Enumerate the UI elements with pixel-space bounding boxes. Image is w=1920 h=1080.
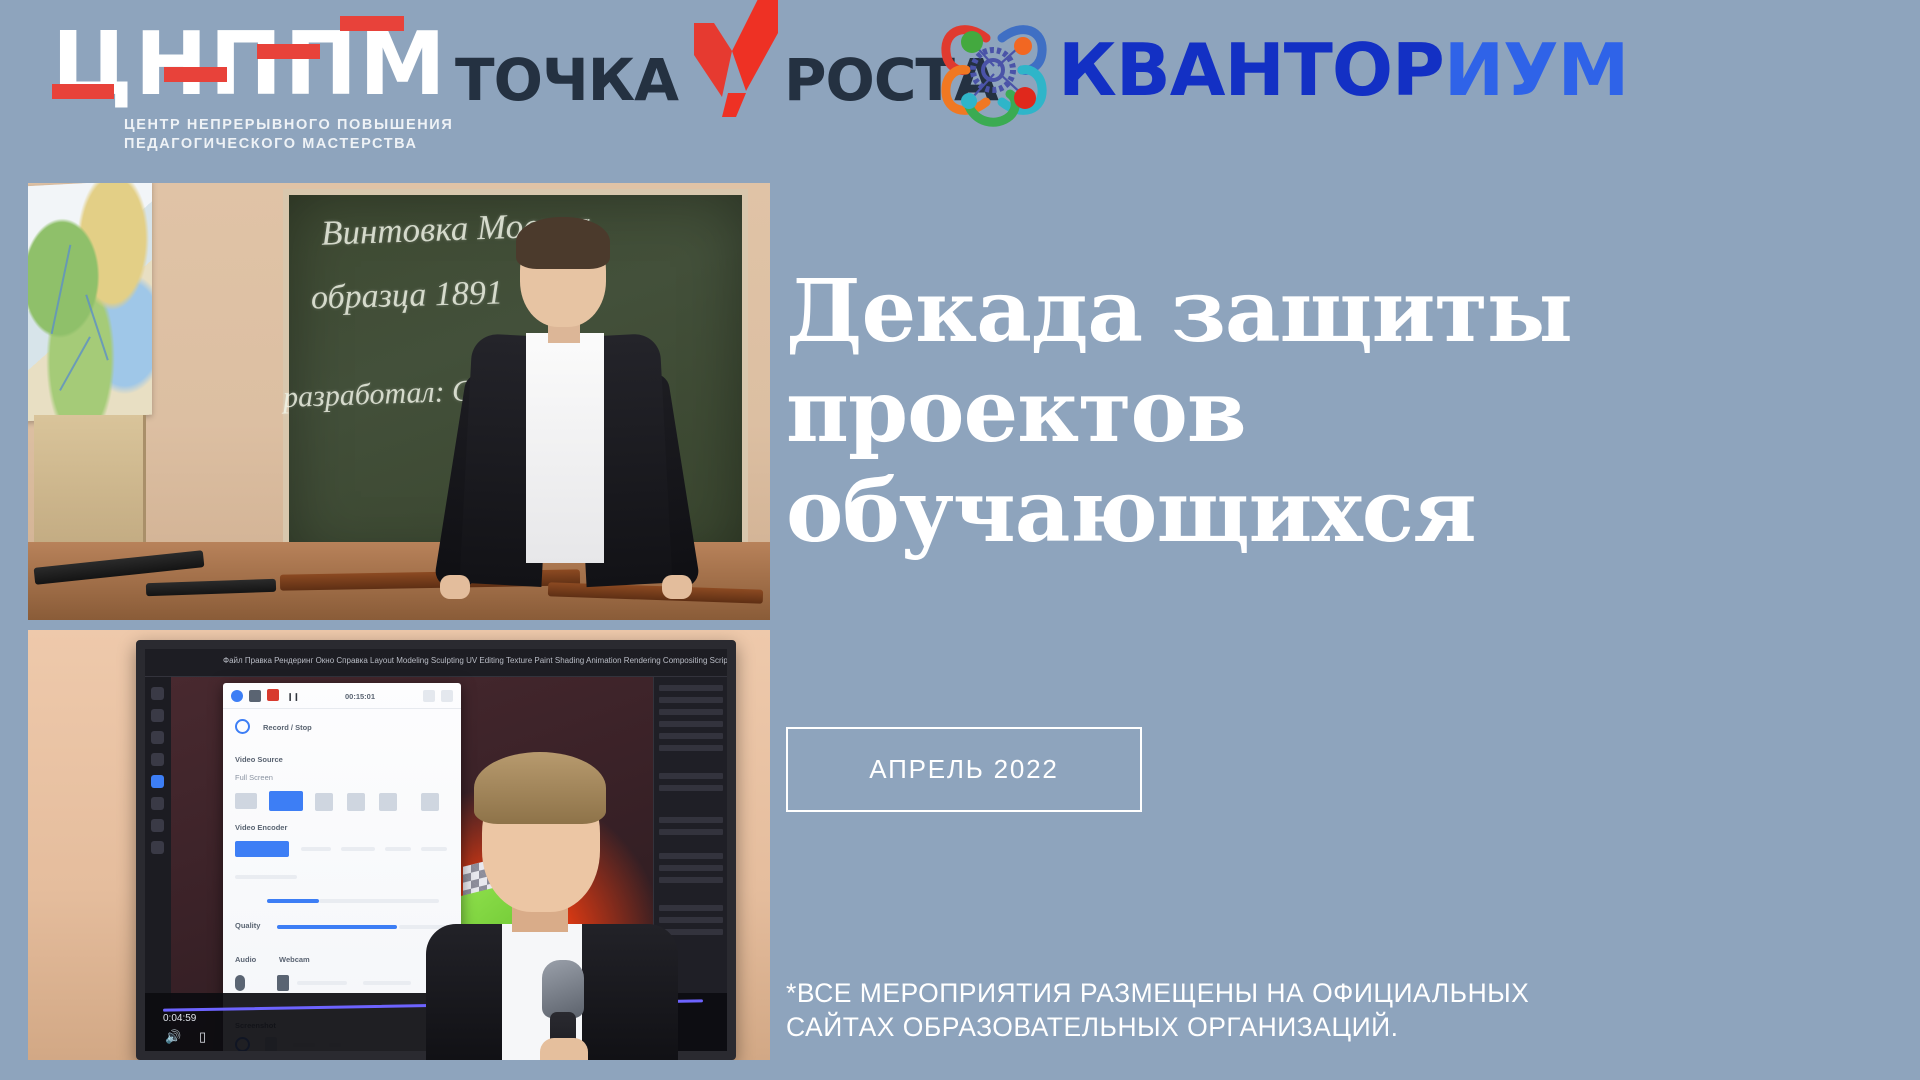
- page-title: Декада защиты проектов обучающихся: [786, 262, 1886, 562]
- student-bottom-hand: [540, 1038, 588, 1060]
- recorder-full-screen-label[interactable]: Full Screen: [235, 773, 273, 782]
- russia-flag-checkmark-icon: [688, 21, 774, 139]
- recorder-video-source-label: Video Source: [235, 755, 283, 764]
- footnote-line-1: *ВСЕ МЕРОПРИЯТИЯ РАЗМЕЩЕНЫ НА ОФИЦИАЛЬНЫ…: [786, 976, 1876, 1010]
- kvantorium-word-light: ИУМ: [1444, 28, 1628, 112]
- recorder-titlebar: ❙❙ 00:15:01: [223, 683, 461, 709]
- tochka-word-1: ТОЧКА: [455, 51, 678, 109]
- cnppm-accent-bar-3: [257, 44, 320, 59]
- student-bottom-jacket-right: [570, 924, 678, 1060]
- cnppm-accent-bar-2: [164, 67, 227, 82]
- student-hand-right: [662, 575, 692, 599]
- logo-cnppm: ЦНППМ ЦЕНТР НЕПРЕРЫВНОГО ПОВЫШЕНИЯ ПЕДАГ…: [52, 12, 472, 162]
- logo-tochka-rosta: ТОЧКА РОСТА: [455, 44, 998, 116]
- logo-kvantorium: КВАНТОРИУМ: [928, 8, 1628, 132]
- photo-whiteboard-presentation: Файл Правка Рендеринг Окно Справка Layou…: [28, 630, 770, 1060]
- microphone-icon: [542, 960, 584, 1018]
- student-hair: [516, 217, 610, 269]
- student-shirt: [526, 333, 604, 563]
- page-title-line-2: проектов: [786, 362, 1886, 462]
- cnppm-accent-bar-1: [52, 84, 114, 99]
- page-title-line-1: Декада защиты: [786, 262, 1886, 362]
- cnppm-subtitle-line-1: ЦЕНТР НЕПРЕРЫВНОГО ПОВЫШЕНИЯ: [124, 116, 453, 135]
- wall-map: [28, 183, 152, 421]
- footnote: *ВСЕ МЕРОПРИЯТИЯ РАЗМЕЩЕНЫ НА ОФИЦИАЛЬНЫ…: [786, 976, 1876, 1044]
- recorder-quality-label: Quality: [235, 921, 260, 930]
- student-presenter-bottom: [420, 756, 700, 1060]
- date-badge-label: АПРЕЛЬ 2022: [869, 754, 1058, 785]
- cnppm-subtitle-line-2: ПЕДАГОГИЧЕСКОГО МАСТЕРСТВА: [124, 135, 453, 154]
- student-presenter-top: [448, 223, 688, 620]
- blender-menu-text[interactable]: Файл Правка Рендеринг Окно Справка Layou…: [223, 656, 727, 665]
- recorder-webcam-label: Webcam: [279, 955, 310, 964]
- footnote-line-2: САЙТАХ ОБРАЗОВАТЕЛЬНЫХ ОРГАНИЗАЦИЙ.: [786, 1010, 1876, 1044]
- cnppm-wordmark: ЦНППМ: [52, 12, 472, 110]
- student-bottom-hair: [474, 752, 606, 824]
- cnppm-subtitle: ЦЕНТР НЕПРЕРЫВНОГО ПОВЫШЕНИЯ ПЕДАГОГИЧЕС…: [124, 116, 453, 154]
- student-hand-left: [440, 575, 470, 599]
- recorder-audio-label: Audio: [235, 955, 256, 964]
- blender-menubar: Файл Правка Рендеринг Окно Справка Layou…: [145, 649, 727, 677]
- kvantorium-wordmark: КВАНТОРИУМ: [1058, 34, 1628, 106]
- recorder-record-label[interactable]: Record / Stop: [263, 723, 312, 732]
- page-title-line-3: обучающихся: [786, 462, 1886, 562]
- kvantorium-word-dark: КВАНТОР: [1058, 28, 1444, 112]
- logo-bar: ЦНППМ ЦЕНТР НЕПРЕРЫВНОГО ПОВЫШЕНИЯ ПЕДАГ…: [0, 0, 1920, 178]
- atom-gear-icon: [928, 8, 1058, 132]
- date-badge: АПРЕЛЬ 2022: [786, 727, 1142, 812]
- cnppm-accent-bar-4: [340, 16, 404, 31]
- recorder-video-encoder-label: Video Encoder: [235, 823, 287, 832]
- photo-classroom-presentation: Винтовка Мосина образца 1891 разработал:…: [28, 183, 770, 620]
- volume-icon[interactable]: 🔊: [165, 1029, 181, 1045]
- video-timestamp: 0:04:59: [163, 1013, 196, 1024]
- subtitles-icon[interactable]: ▯: [199, 1029, 206, 1045]
